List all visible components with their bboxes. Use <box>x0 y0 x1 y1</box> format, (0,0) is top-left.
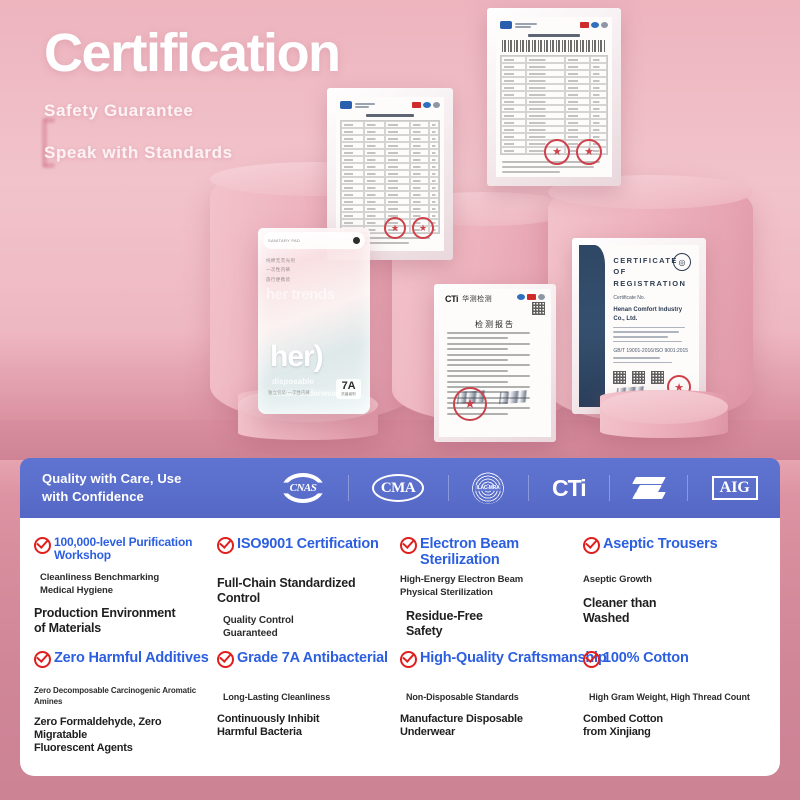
cmc-mark-icon <box>580 22 589 28</box>
feature-maintext: Production Environment of Materials <box>34 606 213 636</box>
feature-card-purification-workshop: 100,000-level Purification Workshop Clea… <box>34 536 217 640</box>
package-bottom-cn: 独立包装·一次性内裤 <box>268 389 310 398</box>
feature-row-1: 100,000-level Purification Workshop Clea… <box>34 536 766 640</box>
feature-title: Electron Beam Sterilization <box>420 536 579 568</box>
feature-title: Zero Harmful Additives <box>54 650 209 666</box>
certification-promo-page: ★ ★ <box>0 0 800 800</box>
official-seal-icon: ★ <box>412 217 434 239</box>
logo-divider <box>687 475 688 501</box>
logo-divider <box>448 475 449 501</box>
cma-mark-icon <box>538 294 545 300</box>
feature-maintext: Full-Chain Standardized Control <box>217 576 396 606</box>
logo-divider <box>609 475 610 501</box>
cti-report-title: 检测报告 <box>439 319 551 330</box>
page-title: Certification <box>44 26 340 80</box>
feature-card-iso9001: ISO9001 Certification Full-Chain Standar… <box>217 536 400 640</box>
logo-cma: CMA <box>372 474 424 502</box>
package-top-label: SANITARY PAD <box>268 238 300 243</box>
feature-maintext: Continuously Inhibit Harmful Bacteria <box>217 713 396 739</box>
registration-standard: GB/T 19001-2016/ISO 9001:2015 <box>613 348 691 354</box>
cnas-mark-icon <box>423 102 431 108</box>
cma-mark-icon <box>433 102 440 108</box>
official-seal-icon: ★ <box>544 139 570 165</box>
feature-subtext: Non-Disposable Standards <box>400 692 579 704</box>
package-brand: her) <box>270 340 323 374</box>
feature-card-zero-harmful-additives: Zero Harmful Additives Zero Decomposable… <box>34 650 217 756</box>
certificate-test-report: ★ ★ <box>487 8 621 186</box>
cmc-mark-icon <box>527 294 536 300</box>
signature-icon <box>496 390 537 405</box>
check-circle-icon <box>583 651 600 668</box>
banner-logo-list: CNAS CMA ILAC-MRA CTi <box>252 472 758 504</box>
feature-row-2: Zero Harmful Additives Zero Decomposable… <box>34 650 766 756</box>
feature-maintext: Residue-Free Safety <box>400 609 579 639</box>
hero-subtitle-2: Speak with Standards <box>44 143 233 163</box>
registration-company: Henan Comfort Industry Co., Ltd. <box>613 306 691 324</box>
aig-label: AIG <box>712 476 758 500</box>
product-package: SANITARY PAD 纯棉无荧光剂 一次性内裤 旅行便携装 her tren… <box>258 228 370 414</box>
cti-brand-label: CTi <box>445 294 458 304</box>
check-circle-icon <box>34 651 51 668</box>
certificate-side-stripe <box>579 245 605 407</box>
feature-subtext: High Gram Weight, High Thread Count <box>583 692 762 704</box>
feature-maintext: Combed Cotton from Xinjiang <box>583 713 762 739</box>
check-circle-icon <box>217 651 234 668</box>
feature-card-electron-beam-sterilization: Electron Beam Sterilization High-Energy … <box>400 536 583 640</box>
package-grade-sub: 抗菌级别 <box>341 392 356 397</box>
feature-card-grade-7a-antibacterial: Grade 7A Antibacterial Long-Lasting Clea… <box>217 650 400 756</box>
feature-title: Aseptic Trousers <box>603 536 717 552</box>
feature-title: 100,000-level Purification Workshop <box>54 536 213 563</box>
package-grade-badge: 7A 抗菌级别 <box>336 379 361 399</box>
cnas-mark-icon <box>517 294 525 300</box>
feature-subtext: Aseptic Growth <box>583 574 762 587</box>
logo-ilac-mra: ILAC-MRA <box>472 472 504 504</box>
certificate-cti-report: CTi 华测检测 检测报告 <box>434 284 556 442</box>
cti-brand-cn-label: 华测检测 <box>462 294 492 304</box>
banner-title: Quality with Care, Use with Confidence <box>42 470 252 505</box>
logo-divider <box>348 475 349 501</box>
feature-card-high-quality-craftsmanship: High-Quality Craftsmanship Non-Disposabl… <box>400 650 583 756</box>
check-circle-icon <box>400 537 417 554</box>
package-ghost-text: her trends <box>266 286 366 303</box>
check-circle-icon <box>400 651 417 668</box>
feature-subtext: High-Energy Electron Beam Physical Steri… <box>400 574 579 599</box>
barcode-icon <box>502 40 606 52</box>
qr-code-icon <box>532 302 545 315</box>
cnas-label: CNAS <box>282 473 324 503</box>
package-cn-lines: 纯棉无荧光剂 一次性内裤 旅行便携装 <box>266 256 370 284</box>
lab-logo-icon <box>500 21 512 29</box>
check-circle-icon <box>34 537 51 554</box>
feature-title: Grade 7A Antibacterial <box>237 650 388 666</box>
feature-title: ISO9001 Certification <box>237 536 379 552</box>
hero-subtitle-1: Safety Guarantee <box>44 101 193 121</box>
cma-mark-icon <box>601 22 608 28</box>
check-circle-icon <box>583 537 600 554</box>
ilac-label: ILAC-MRA <box>475 485 500 491</box>
sgs-mark-icon <box>634 477 664 499</box>
cti-label: CTi <box>552 475 586 502</box>
feature-title: High-Quality Craftsmanship <box>420 650 607 666</box>
cmc-mark-icon <box>412 102 421 108</box>
package-dot-icon <box>353 237 360 244</box>
features-panel: 100,000-level Purification Workshop Clea… <box>20 518 780 776</box>
feature-maintext: Manufacture Disposable Underwear <box>400 713 579 739</box>
lab-logo-icon <box>340 101 352 109</box>
podium-small-base <box>600 390 728 438</box>
cnas-mark-icon <box>591 22 599 28</box>
logo-aig: AIG <box>712 476 758 500</box>
feature-subtext: Long-Lasting Cleanliness <box>217 692 396 704</box>
logo-cti: CTi <box>552 475 586 502</box>
cma-label: CMA <box>372 474 424 502</box>
feature-title: 100% Cotton <box>603 650 689 666</box>
feature-subtext: Cleanliness Benchmarking Medical Hygiene <box>34 572 213 597</box>
official-seal-icon: ★ <box>576 139 602 165</box>
ukas-logo-icon: ◎ <box>673 253 691 271</box>
logo-cnas: CNAS <box>282 473 324 503</box>
feature-maintext: Cleaner than Washed <box>583 596 762 626</box>
feature-card-100-percent-cotton: 100% Cotton High Gram Weight, High Threa… <box>583 650 766 756</box>
official-seal-icon: ★ <box>384 217 406 239</box>
certificate-of-registration: CERTIFICATE OF REGISTRATION ◎ Certificat… <box>572 238 706 414</box>
logo-divider <box>528 475 529 501</box>
feature-card-aseptic-trousers: Aseptic Trousers Aseptic Growth Cleaner … <box>583 536 766 640</box>
certification-banner: Quality with Care, Use with Confidence C… <box>20 458 780 518</box>
feature-subtext-2: Quality Control Guaranteed <box>217 614 396 640</box>
feature-maintext: Zero Formaldehyde, Zero Migratable Fluor… <box>34 716 213 756</box>
check-circle-icon <box>217 537 234 554</box>
logo-sgs <box>634 477 664 499</box>
package-grade-number: 7A <box>341 381 356 392</box>
official-seal-icon: ★ <box>453 387 487 421</box>
feature-subtext: Zero Decomposable Carcinogenic Aromatic … <box>34 686 213 707</box>
